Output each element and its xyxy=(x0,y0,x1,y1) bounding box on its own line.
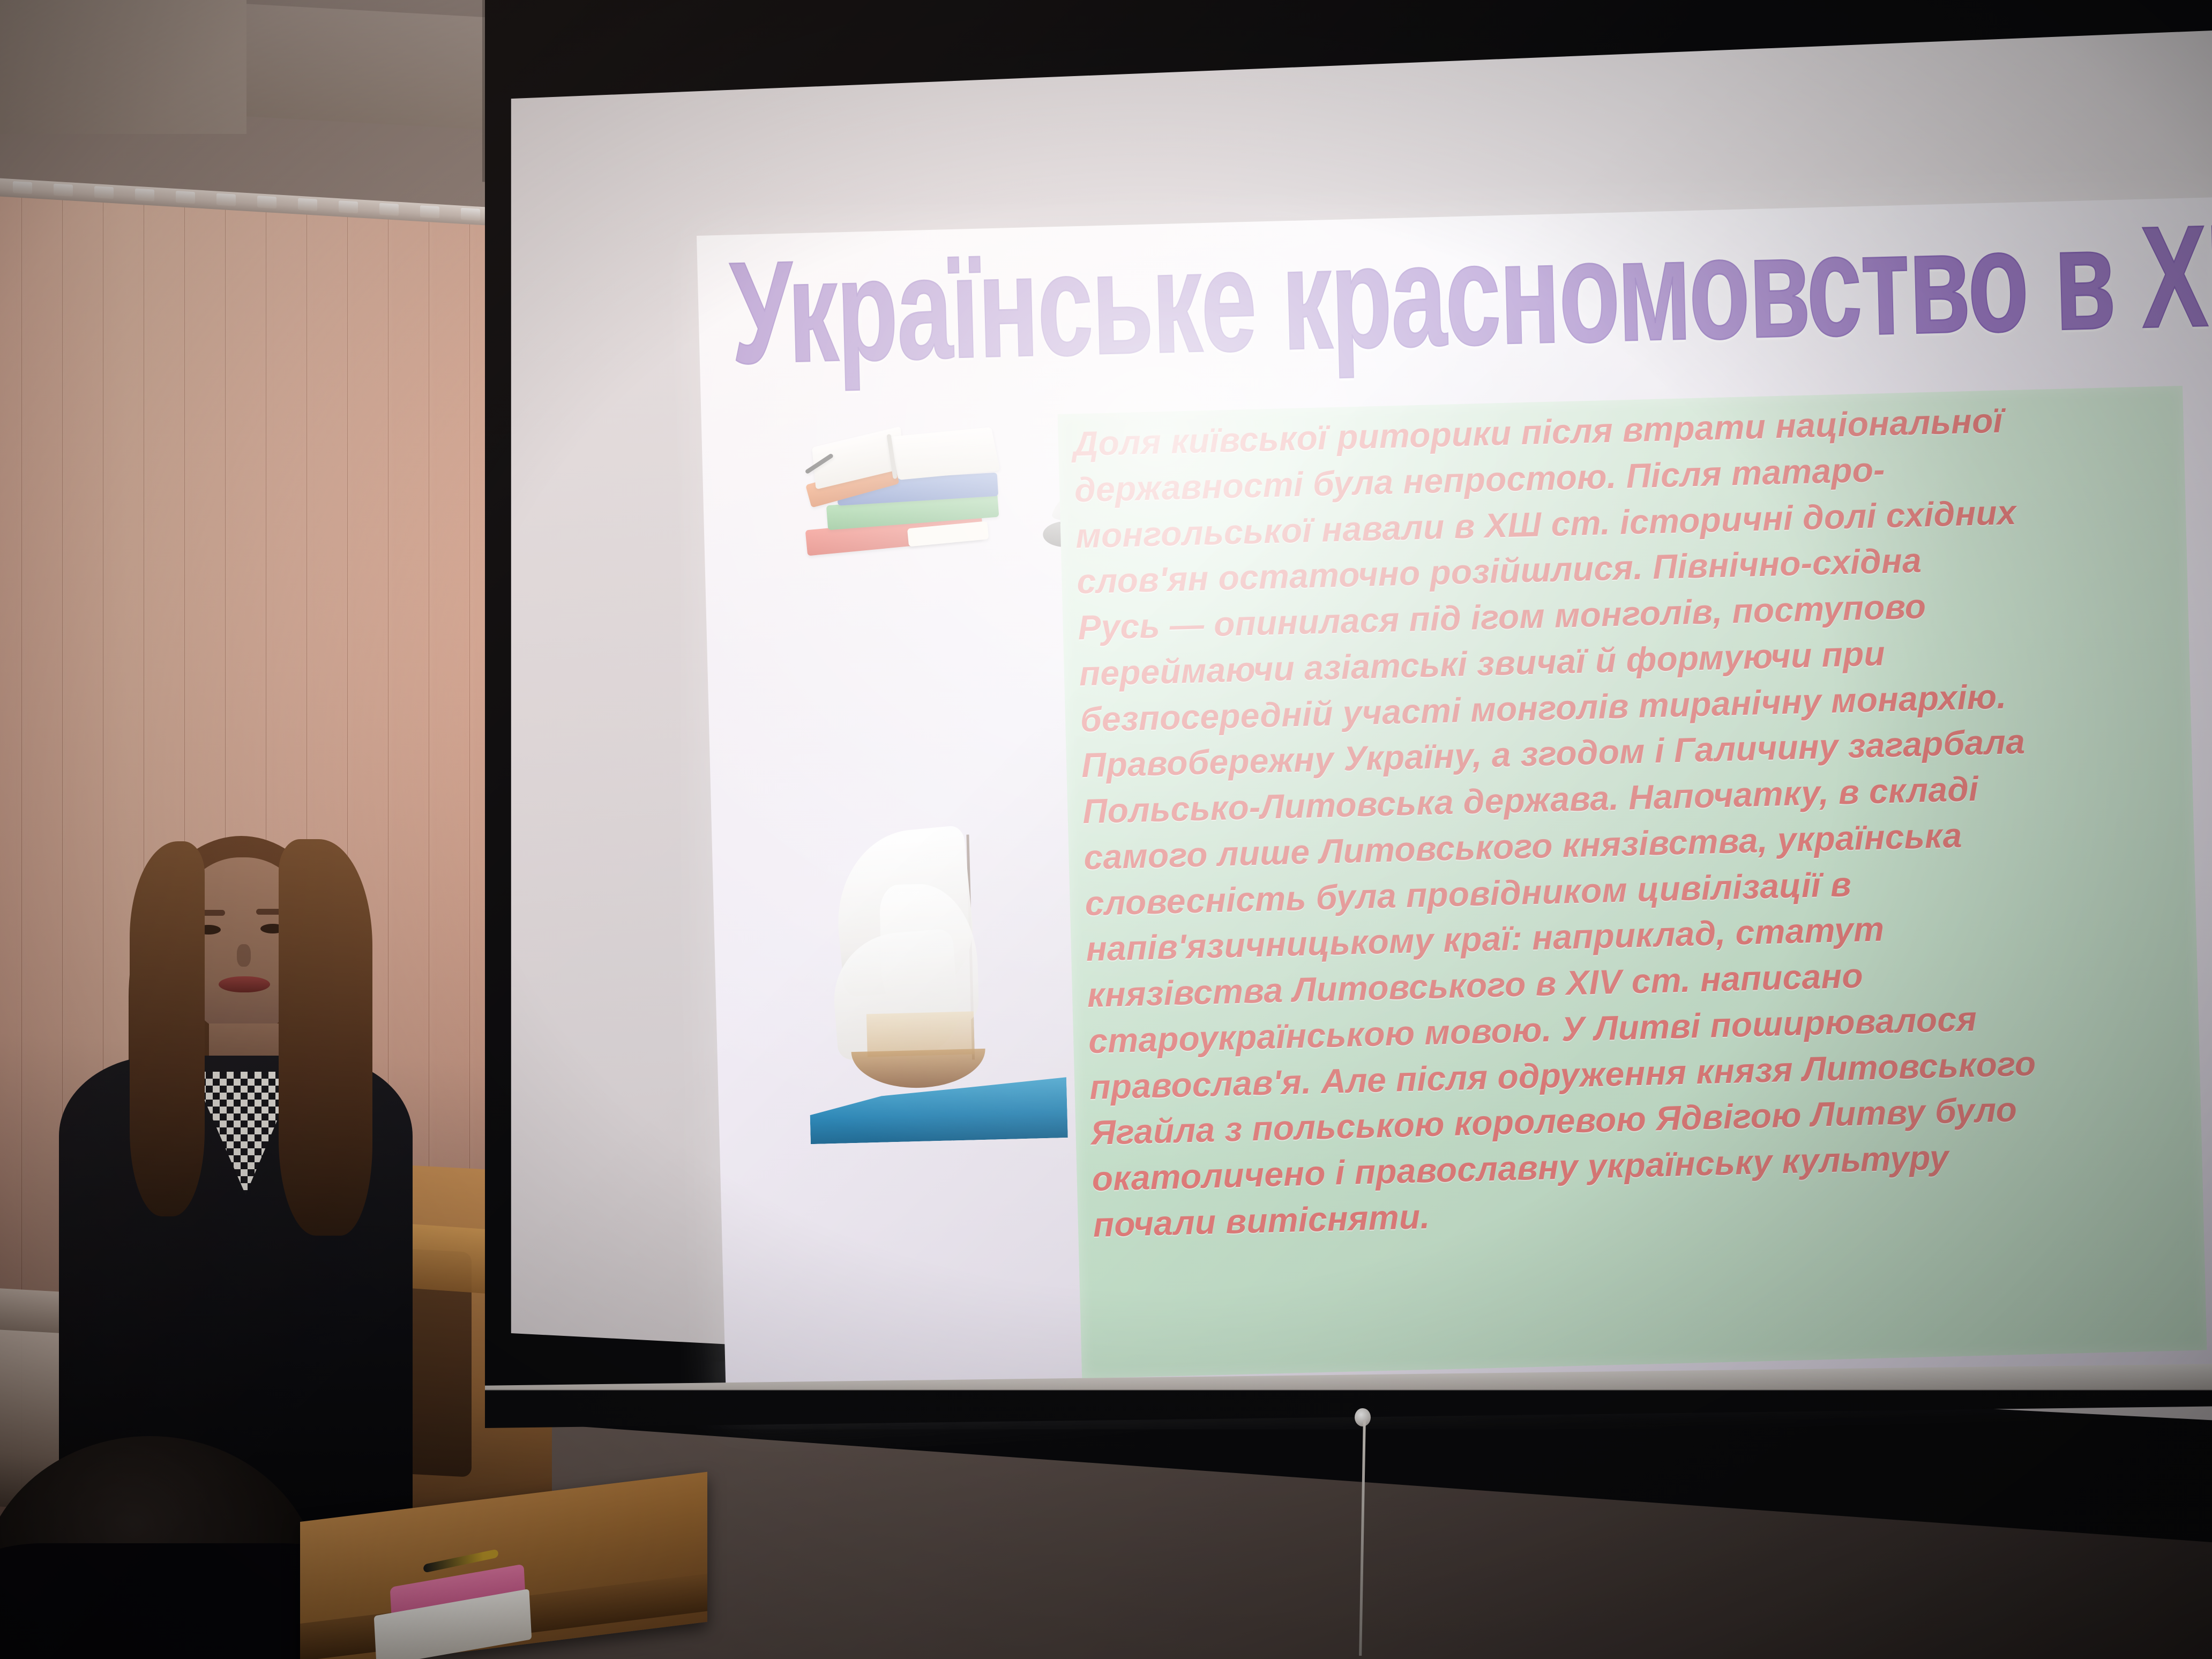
blind-clip xyxy=(13,181,32,194)
blind-clip xyxy=(216,193,236,206)
presenter-hair-left-strand xyxy=(130,841,205,1216)
presenter xyxy=(48,820,434,1538)
blind-clip xyxy=(298,198,317,211)
presenter-lips xyxy=(219,976,270,992)
blind-clip xyxy=(176,191,195,204)
books-stack-icon xyxy=(798,429,1026,563)
blind-clip xyxy=(54,184,73,197)
blind-clip xyxy=(135,189,154,201)
open-book-right-page xyxy=(890,427,1000,480)
ship-hull xyxy=(851,1049,987,1089)
slide-body-text: Доля київської риторики після втрати нац… xyxy=(1073,393,2192,1248)
projected-slide: Українське красномовство в XIII-XVII ст. xyxy=(697,197,2212,1409)
blind-clip xyxy=(420,205,439,218)
blind-clip xyxy=(461,208,480,221)
blind-clip xyxy=(257,196,276,208)
blind-clip xyxy=(94,186,114,199)
presenter-nose xyxy=(237,944,251,967)
blind-clip xyxy=(379,203,399,216)
slide-text-panel: Доля київської риторики після втрати нац… xyxy=(1058,386,2207,1379)
blind-clip xyxy=(339,200,358,213)
sailing-ship-icon xyxy=(813,817,1047,1154)
presenter-hair-right-strand xyxy=(279,839,372,1236)
wall-corner-panel xyxy=(0,0,246,134)
classroom-scene: Українське красномовство в XIII-XVII ст. xyxy=(0,0,2212,1659)
